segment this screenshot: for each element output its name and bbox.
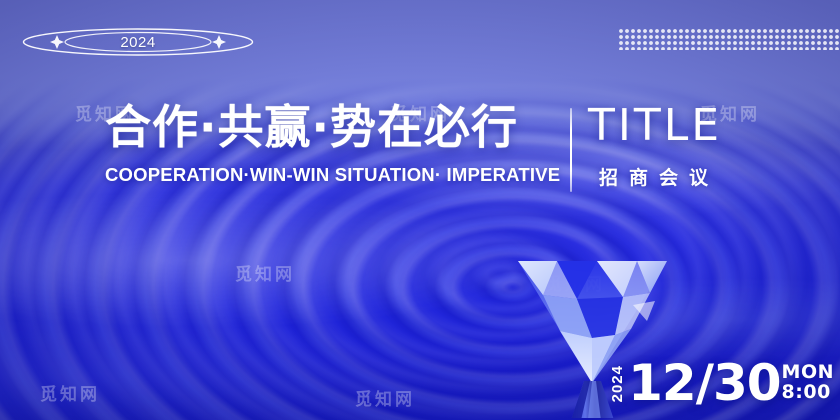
- event-date-block: 2024 12/30 MON 8:00: [609, 360, 834, 406]
- date-weekday-time: MON 8:00: [782, 362, 834, 403]
- date-day: 12/30: [628, 360, 780, 406]
- title-sub-text: 招商会议: [588, 163, 722, 190]
- dot-grid-pattern: [618, 28, 840, 50]
- date-year: 2024: [609, 365, 626, 402]
- headline-chinese: 合作·共赢·势在必行: [105, 104, 560, 150]
- date-time: 8:00: [782, 382, 834, 403]
- headline-english: COOPERATION·WIN-WIN SITUATION· IMPERATIV…: [105, 164, 560, 186]
- year-badge-label: 2024: [22, 27, 254, 57]
- date-weekday: MON: [782, 362, 834, 383]
- vertical-divider: [570, 108, 572, 192]
- year-badge: 2024: [22, 27, 254, 57]
- title-main-text: TITLE: [588, 104, 722, 148]
- title-block: TITLE 招商会议: [588, 104, 722, 190]
- headline-block: 合作·共赢·势在必行 COOPERATION·WIN-WIN SITUATION…: [105, 104, 560, 186]
- conference-banner: 觅知网觅知网觅知网觅知网觅知网觅知网觅知网 2024 合作·共赢·势在必行 CO…: [0, 0, 840, 420]
